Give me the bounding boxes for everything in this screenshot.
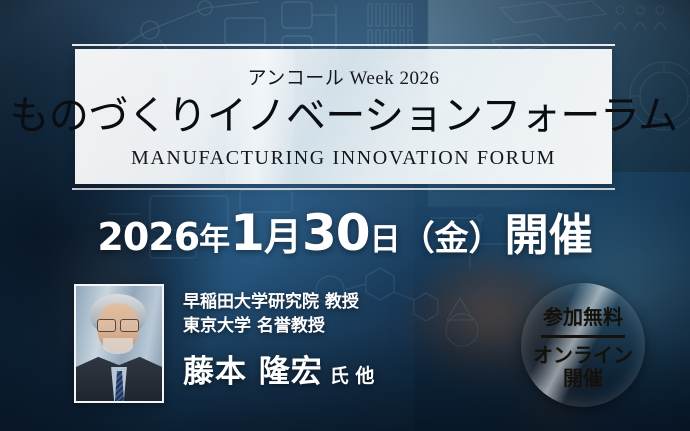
title-bottom-rule [72, 188, 615, 190]
badge-held-label: 開催 [563, 367, 603, 389]
free-online-badge: 参加無料 オンライン 開催 [521, 283, 645, 407]
speaker-info: 早稲田大学研究院 教授 東京大学 名誉教授 藤本 隆宏 氏 他 [183, 290, 374, 391]
date-month-unit: 月 [264, 206, 302, 261]
event-title-ja: ものづくりイノベーションフォーラム [9, 92, 677, 141]
speaker-affiliation-1: 早稲田大学研究院 教授 [183, 290, 374, 314]
event-date: 2026年1月30日（金）開催 [0, 199, 690, 261]
date-held-label: 開催 [505, 199, 593, 263]
title-panel: アンコール Week 2026 ものづくりイノベーションフォーラム MANUFA… [75, 49, 612, 184]
date-weekday: （金） [401, 211, 503, 260]
speaker-name-suffix: 氏 他 [330, 361, 375, 388]
speaker-affiliation-2: 東京大学 名誉教授 [183, 314, 374, 338]
event-banner: アンコール Week 2026 ものづくりイノベーションフォーラム MANUFA… [0, 0, 690, 431]
badge-free-label: 参加無料 [543, 301, 623, 330]
date-day-unit: 日 [370, 214, 401, 259]
event-kicker: アンコール Week 2026 [247, 63, 439, 90]
event-title-en: MANUFACTURING INNOVATION FORUM [131, 147, 556, 170]
date-year: 2026 [97, 215, 199, 259]
badge-online-label: オンライン [533, 344, 633, 366]
speaker-portrait [74, 284, 164, 403]
title-top-rule [72, 44, 615, 46]
speaker-name-row: 藤本 隆宏 氏 他 [183, 346, 374, 391]
portrait-beard [103, 338, 133, 354]
date-month: 1 [230, 204, 264, 262]
badge-divider [541, 335, 625, 338]
portrait-glasses-icon [96, 319, 140, 330]
date-year-unit: 年 [199, 214, 230, 259]
speaker-name: 藤本 隆宏 [183, 346, 323, 391]
date-day: 30 [302, 204, 370, 262]
